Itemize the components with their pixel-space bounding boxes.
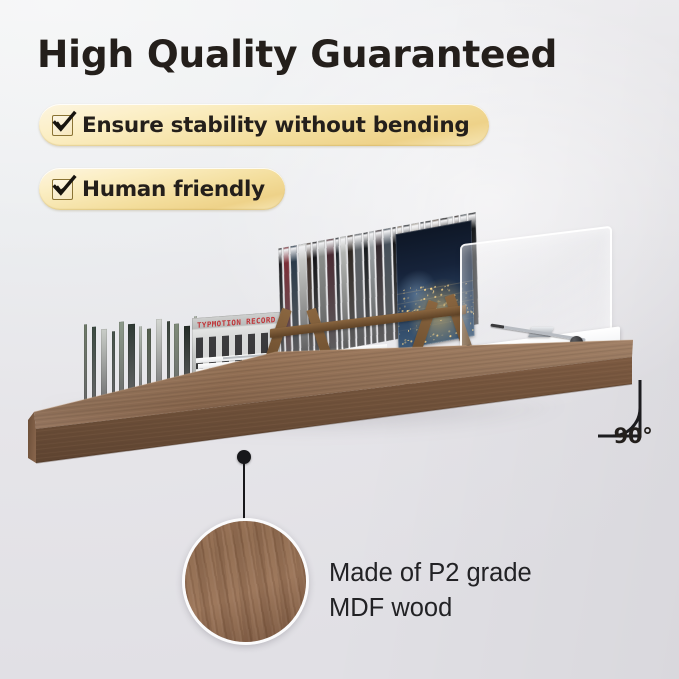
feature-badge-human-friendly: Human friendly [39, 168, 285, 210]
product-photo-shelf-scene: TYPMOTION RECORD [0, 215, 679, 515]
wood-grain-swatch [182, 518, 309, 645]
feature-badge-label: Human friendly [82, 177, 265, 202]
checkbox-checked-icon [52, 115, 73, 136]
right-angle-marker [596, 378, 658, 464]
wood-grain-texture [182, 518, 309, 645]
angle-value-label: 90° [600, 424, 666, 448]
feature-badge-stability: Ensure stability without bending [39, 104, 489, 146]
product-marketing-image: High Quality Guaranteed Ensure stability… [0, 0, 679, 679]
material-caption: Made of P2 grade MDF wood [329, 556, 532, 626]
checkbox-checked-icon [52, 179, 73, 200]
floating-shelf [0, 215, 679, 475]
feature-badge-label: Ensure stability without bending [82, 113, 469, 138]
page-title: High Quality Guaranteed [37, 31, 557, 77]
callout-anchor-dot [237, 450, 251, 464]
